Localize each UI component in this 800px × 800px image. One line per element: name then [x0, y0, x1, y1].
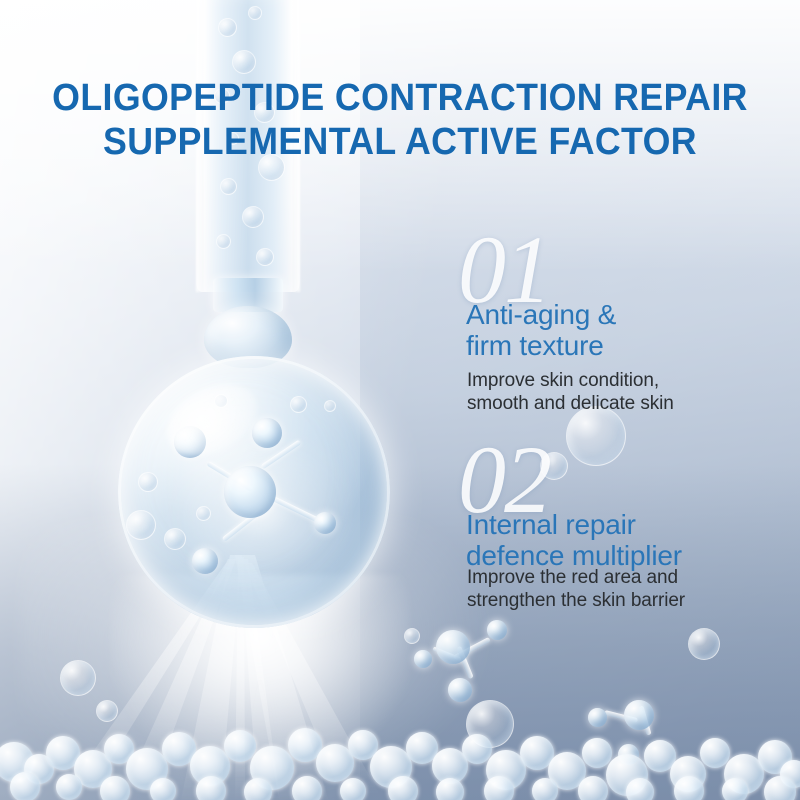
- foam-bubble: [388, 776, 418, 800]
- foam-bubble: [244, 778, 272, 800]
- foam-bubble: [196, 776, 226, 800]
- foam-bubble: [56, 774, 82, 800]
- foam-bubble: [626, 778, 654, 800]
- serum-droplet: [118, 356, 390, 628]
- tube-bubble: [242, 206, 264, 228]
- foam-bubble: [10, 772, 40, 800]
- tube-bubble: [220, 178, 237, 195]
- foam-bubble: [578, 776, 608, 800]
- droplet-rim: [118, 356, 390, 628]
- bubble-foam-field: [0, 680, 800, 800]
- tube-bubble: [248, 6, 262, 20]
- foam-bubble: [722, 778, 748, 800]
- foam-bubble: [436, 778, 464, 800]
- foam-bubble: [764, 776, 796, 800]
- feature-body-02-line-2: strengthen the skin barrier: [467, 589, 685, 612]
- title-line-2: SUPPLEMENTAL ACTIVE FACTOR: [24, 120, 776, 164]
- product-poster: OLIGOPEPTIDE CONTRACTION REPAIR SUPPLEME…: [0, 0, 800, 800]
- feature-body-01-line-1: Improve skin condition,: [467, 369, 659, 392]
- foam-bubble: [674, 776, 704, 800]
- molecule-node: [487, 620, 507, 640]
- floating-bubble: [566, 406, 626, 466]
- tube-bubble: [216, 234, 231, 249]
- tube-bubble: [218, 18, 237, 37]
- molecule-node: [414, 650, 432, 668]
- feature-heading-01-line-2: firm texture: [466, 330, 604, 361]
- feature-heading-01-line-1: Anti-aging &: [466, 299, 616, 330]
- floating-bubble: [688, 628, 720, 660]
- tube-bubble: [232, 50, 256, 74]
- foam-bubble: [224, 730, 256, 762]
- foam-bubble: [582, 738, 612, 768]
- feature-body-01-line-2: smooth and delicate skin: [467, 392, 674, 415]
- foam-bubble: [532, 778, 558, 800]
- feature-body-02-line-1: Improve the red area and: [467, 566, 678, 589]
- floating-bubble: [404, 628, 420, 644]
- foam-bubble: [340, 778, 366, 800]
- feature-heading-02-line-1: Internal repair: [466, 509, 636, 540]
- tube-bubble: [256, 248, 274, 266]
- foam-bubble: [150, 778, 176, 800]
- molecule-node-center: [436, 630, 470, 664]
- foam-bubble: [292, 776, 322, 800]
- title-line-1: OLIGOPEPTIDE CONTRACTION REPAIR: [24, 76, 776, 120]
- foam-bubble: [100, 776, 130, 800]
- page-title: OLIGOPEPTIDE CONTRACTION REPAIR SUPPLEME…: [24, 76, 776, 164]
- foam-bubble: [484, 776, 514, 800]
